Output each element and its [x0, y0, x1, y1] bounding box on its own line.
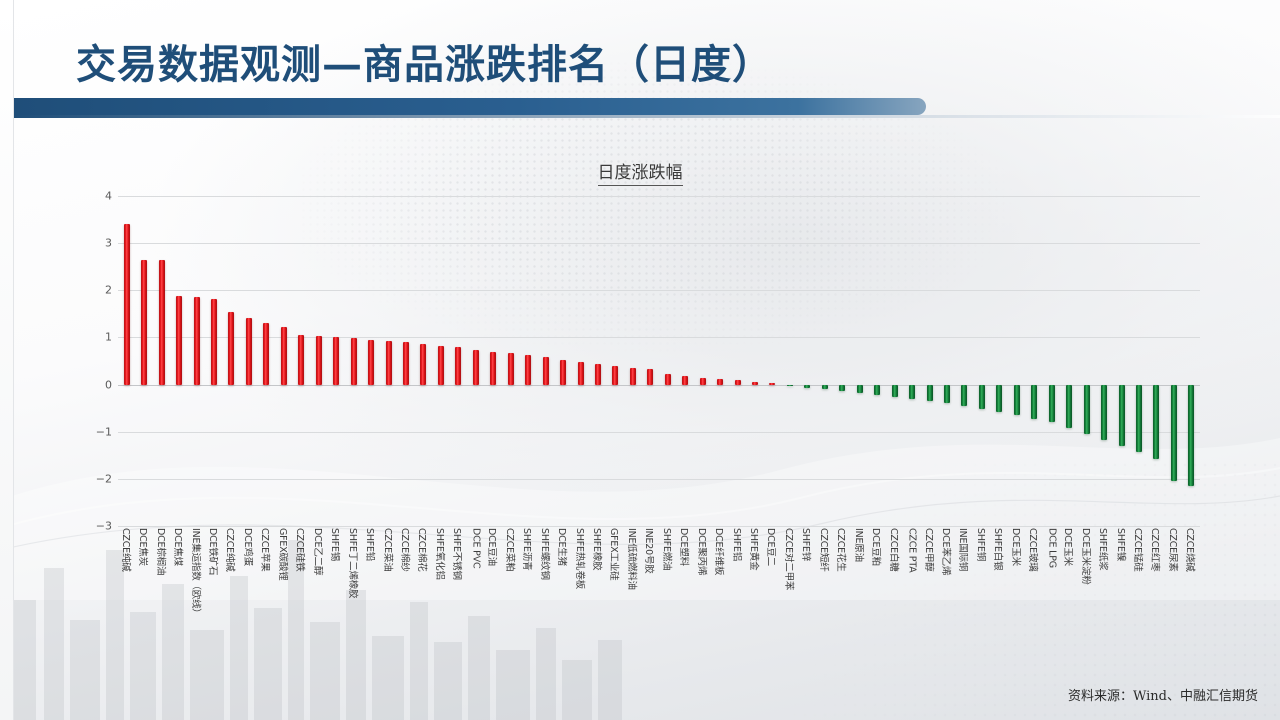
bar-slot [170, 196, 187, 526]
chart-bar [141, 260, 147, 385]
x-label-slot: DCE豆二 [764, 528, 781, 678]
x-axis-tick-label: CZCE苹果 [259, 528, 273, 572]
x-axis-tick-label: CZCE玻璃 [1027, 528, 1041, 572]
x-axis-tick-label: SHFE氧化铝 [434, 528, 448, 580]
x-label-slot: INE20号胶 [642, 528, 659, 678]
bar-slot [1095, 196, 1112, 526]
chart-bar [1188, 385, 1194, 486]
chart-bars-container [118, 196, 1200, 526]
x-axis-tick-label: DCE玉米淀粉 [1080, 528, 1094, 585]
x-axis-tick-label: INE20号胶 [643, 528, 657, 574]
x-axis-tick-label: DCE苯乙烯 [940, 528, 954, 575]
bar-slot [903, 196, 920, 526]
chart-bar [211, 299, 217, 385]
x-axis-tick-label: SHFE螺纹钢 [539, 528, 553, 580]
chart-bar [473, 350, 479, 385]
bar-slot [764, 196, 781, 526]
x-axis-tick-label: CZCE纯碱 [120, 528, 134, 572]
bar-slot [1165, 196, 1182, 526]
x-label-slot: DCE玉米 [1060, 528, 1077, 678]
chart-bar [560, 360, 566, 385]
x-axis-tick-label: SHFE丁二烯橡胶 [347, 528, 361, 598]
x-axis-tick-label: SHFE锌 [800, 528, 814, 561]
bar-slot [1113, 196, 1130, 526]
x-axis-tick-label: CZCE纯碱 [224, 528, 238, 572]
x-label-slot: CZCE玻璃 [1026, 528, 1043, 678]
chart-bar [1119, 385, 1125, 446]
bar-slot [572, 196, 589, 526]
y-axis: 43210−1−2−3 [80, 196, 118, 526]
x-axis-tick-label: INE集运指数（欧线） [190, 528, 204, 618]
x-axis-tick-label: DCE豆二 [765, 528, 779, 566]
x-axis-tick-label: DCE玉米 [1062, 528, 1076, 566]
x-label-slot: CZCE红枣 [1148, 528, 1165, 678]
x-label-slot: DCE焦煤 [170, 528, 187, 678]
bar-slot [537, 196, 554, 526]
chart-bar [647, 369, 653, 384]
x-label-slot: SHFE铅 [362, 528, 379, 678]
bar-slot [135, 196, 152, 526]
chart-bar [979, 385, 985, 410]
bar-slot [781, 196, 798, 526]
chart-bar [961, 385, 967, 407]
chart-bar [735, 380, 741, 385]
chart-bar [281, 327, 287, 385]
x-label-slot: SHFE丁二烯橡胶 [345, 528, 362, 678]
x-axis-tick-label: DCE生猪 [556, 528, 570, 566]
bar-slot [694, 196, 711, 526]
chart-bar [595, 364, 601, 385]
x-label-slot: CZCE短纤 [816, 528, 833, 678]
x-axis-tick-label: DCE铁矿石 [207, 528, 221, 575]
source-note: 资料来源：Wind、中融汇信期货 [1068, 685, 1258, 704]
x-label-slot: CZCE苹果 [258, 528, 275, 678]
x-label-slot: DCE铁矿石 [205, 528, 222, 678]
x-label-slot: CZCE纯碱 [118, 528, 135, 678]
chart-bar [159, 260, 165, 385]
bar-slot [642, 196, 659, 526]
x-label-slot: SHFE铜 [973, 528, 990, 678]
chart-bar [1171, 385, 1177, 482]
chart-bar [490, 352, 496, 385]
x-label-slot: CZCE菜油 [380, 528, 397, 678]
x-label-slot: SHFE不锈钢 [450, 528, 467, 678]
title-underline-hairline [14, 115, 1280, 118]
x-axis-tick-label: CZCE PTA [907, 528, 918, 573]
bar-slot [956, 196, 973, 526]
bar-slot [450, 196, 467, 526]
x-label-slot: CZCE硅铁 [293, 528, 310, 678]
bar-slot [746, 196, 763, 526]
x-axis-tick-label: DCE PVC [470, 528, 481, 568]
x-axis-tick-label: SHFE白银 [992, 528, 1006, 570]
chart-bar [578, 362, 584, 385]
chart-bar [228, 312, 234, 385]
x-label-slot: CZCE纯碱 [223, 528, 240, 678]
x-axis-tick-label: SHFE镍 [1115, 528, 1129, 561]
chart-bar [298, 335, 304, 385]
chart-bar [1084, 385, 1090, 435]
bar-slot [415, 196, 432, 526]
chart-bar [839, 385, 845, 392]
x-label-slot: DCE焦炭 [135, 528, 152, 678]
x-axis-tick-label: CZCE硅铁 [294, 528, 308, 572]
x-label-slot: DCE纤维板 [711, 528, 728, 678]
x-axis-tick-label: INE原油 [853, 528, 867, 562]
bar-slot [467, 196, 484, 526]
x-axis-tick-label: DCE鸡蛋 [242, 528, 256, 566]
chart-bar [386, 341, 392, 384]
x-label-slot: GFEX工业硅 [607, 528, 624, 678]
x-axis-tick-label: SHFE不锈钢 [451, 528, 465, 580]
bar-slot [223, 196, 240, 526]
x-label-slot: DCE乙二醇 [310, 528, 327, 678]
x-axis-tick-label: INE低硫燃料油 [626, 528, 640, 590]
x-axis-tick-label: GFEX工业硅 [608, 528, 622, 580]
x-axis-tick-label: GFEX碳酸锂 [277, 528, 291, 580]
bar-slot [589, 196, 606, 526]
chart-bar [874, 385, 880, 395]
title-underline-bar [14, 98, 926, 115]
chart-bar [996, 385, 1002, 412]
bar-slot [677, 196, 694, 526]
x-axis-tick-label: DCE焦煤 [172, 528, 186, 566]
bar-slot [624, 196, 641, 526]
chart-bar [438, 346, 444, 385]
chart-title: 日度涨跌幅 [0, 158, 1280, 183]
x-axis-tick-label: SHFE热轧卷板 [574, 528, 588, 589]
chart-bar [368, 340, 374, 385]
chart-bar [1153, 385, 1159, 459]
x-axis-tick-label: SHFE铅 [364, 528, 378, 561]
x-label-slot: SHFE黄金 [746, 528, 763, 678]
chart-bar [717, 379, 723, 385]
x-axis-tick-label: CZCE菜油 [382, 528, 396, 572]
x-axis-tick-label: DCE焦炭 [137, 528, 151, 566]
y-axis-tick-label: 1 [105, 331, 112, 344]
left-edge-strip [0, 0, 14, 720]
bar-slot [816, 196, 833, 526]
bar-slot [310, 196, 327, 526]
x-label-slot: CZCE PTA [903, 528, 920, 678]
x-axis-tick-label: CZCE甲醇 [923, 528, 937, 572]
x-axis-tick-label: DCE LPG [1046, 528, 1057, 568]
x-axis-tick-label: SHFE黄金 [748, 528, 762, 570]
bar-slot [327, 196, 344, 526]
chart-bar [403, 342, 409, 384]
bar-slot [153, 196, 170, 526]
gridline [118, 526, 1200, 527]
x-axis-tick-label: SHFE锡 [329, 528, 343, 561]
chart-bar [752, 382, 758, 384]
chart-bar [944, 385, 950, 404]
x-label-slot: DCE豆油 [485, 528, 502, 678]
x-axis-tick-label: CZCE棉花 [416, 528, 430, 572]
page-title: 交易数据观测—商品涨跌排名（日度） [76, 32, 773, 90]
x-label-slot: DCE生猪 [554, 528, 571, 678]
x-label-slot: CZCE菜粕 [502, 528, 519, 678]
chart-bar [333, 337, 339, 384]
chart-bar [1066, 385, 1072, 428]
x-label-slot: SHFE螺纹钢 [537, 528, 554, 678]
x-axis-tick-label: DCE豆粕 [870, 528, 884, 566]
x-axis-labels: CZCE纯碱DCE焦炭DCE棕榈油DCE焦煤INE集运指数（欧线）DCE铁矿石C… [118, 528, 1200, 678]
x-axis-tick-label: DCE纤维板 [713, 528, 727, 575]
x-label-slot: INE集运指数（欧线） [188, 528, 205, 678]
bar-slot [729, 196, 746, 526]
y-axis-tick-label: 0 [105, 378, 112, 391]
x-axis-tick-label: SHFE纸浆 [1097, 528, 1111, 570]
x-label-slot: DCE PVC [467, 528, 484, 678]
x-label-slot: CZCE棉花 [415, 528, 432, 678]
chart-bar [1136, 385, 1142, 452]
x-label-slot: SHFE锡 [327, 528, 344, 678]
x-axis-tick-label: SHFE燃油 [661, 528, 675, 570]
chart-bar [543, 357, 549, 384]
chart-bar [351, 338, 357, 384]
chart-bar [804, 385, 810, 388]
bar-slot [205, 196, 222, 526]
bar-slot [1078, 196, 1095, 526]
x-axis-tick-label: CZCE锰硅 [1132, 528, 1146, 572]
bar-slot [659, 196, 676, 526]
bar-slot [711, 196, 728, 526]
chart-bar [194, 297, 200, 384]
chart-bar [612, 366, 618, 385]
chart-bar [1049, 385, 1055, 423]
x-label-slot: INE国际铜 [956, 528, 973, 678]
x-label-slot: DCE棕榈油 [153, 528, 170, 678]
x-label-slot: CZCE尿素 [1165, 528, 1182, 678]
bar-slot [1060, 196, 1077, 526]
x-label-slot: INE低硫燃料油 [624, 528, 641, 678]
y-axis-tick-label: 3 [105, 237, 112, 250]
x-label-slot: DCE苯乙烯 [938, 528, 955, 678]
chart-title-text: 日度涨跌幅 [598, 163, 683, 186]
x-label-slot: INE原油 [851, 528, 868, 678]
x-label-slot: CZCE烧碱 [1183, 528, 1200, 678]
x-axis-tick-label: CZCE短纤 [818, 528, 832, 572]
x-label-slot: CZCE花生 [834, 528, 851, 678]
bar-slot [240, 196, 257, 526]
x-axis-tick-label: DCE乙二醇 [312, 528, 326, 575]
x-label-slot: DCE鸡蛋 [240, 528, 257, 678]
chart-bar [927, 385, 933, 401]
chart-bar [769, 383, 775, 384]
bar-slot [607, 196, 624, 526]
chart-bar [892, 385, 898, 397]
bar-slot [973, 196, 990, 526]
bar-slot [886, 196, 903, 526]
x-label-slot: SHFE燃油 [659, 528, 676, 678]
y-axis-tick-label: 4 [105, 190, 112, 203]
bar-slot [554, 196, 571, 526]
bar-slot [1130, 196, 1147, 526]
bar-slot [519, 196, 536, 526]
x-axis-tick-label: SHFE铝 [731, 528, 745, 561]
x-label-slot: SHFE氧化铝 [432, 528, 449, 678]
x-label-slot: DCE LPG [1043, 528, 1060, 678]
bar-slot [397, 196, 414, 526]
x-axis-tick-label: CZCE烧碱 [1184, 528, 1198, 572]
x-label-slot: DCE豆粕 [868, 528, 885, 678]
x-axis-tick-label: CZCE尿素 [1167, 528, 1181, 572]
x-label-slot: CZCE甲醇 [921, 528, 938, 678]
chart-bar [1101, 385, 1107, 441]
y-axis-tick-label: 2 [105, 284, 112, 297]
bar-slot [118, 196, 135, 526]
bar-slot [293, 196, 310, 526]
x-axis-tick-label: DCE聚丙烯 [696, 528, 710, 575]
x-axis-tick-label: DCE玉米 [1010, 528, 1024, 566]
chart-bar [455, 347, 461, 385]
bar-slot [502, 196, 519, 526]
x-axis-tick-label: SHFE铜 [975, 528, 989, 561]
bar-slot [799, 196, 816, 526]
chart-bar [176, 296, 182, 385]
bar-slot [851, 196, 868, 526]
bar-slot [188, 196, 205, 526]
x-label-slot: SHFE白银 [991, 528, 1008, 678]
x-axis-tick-label: CZCE菜粕 [504, 528, 518, 572]
slide-title-band: 交易数据观测—商品涨跌排名（日度） [14, 10, 1280, 110]
bar-slot [1026, 196, 1043, 526]
chart-bar [909, 385, 915, 399]
chart-bar [316, 336, 322, 385]
bar-slot [275, 196, 292, 526]
x-axis-tick-label: DCE豆油 [486, 528, 500, 566]
x-axis-tick-label: CZCE对二甲苯 [783, 528, 797, 590]
y-axis-tick-label: −1 [96, 425, 112, 438]
x-label-slot: CZCE锰硅 [1130, 528, 1147, 678]
x-label-slot: DCE玉米 [1008, 528, 1025, 678]
chart-bar [263, 323, 269, 384]
bar-slot [868, 196, 885, 526]
chart-bar [525, 355, 531, 384]
chart-bar [857, 385, 863, 393]
x-axis-tick-label: DCE塑料 [678, 528, 692, 566]
x-label-slot: SHFE纸浆 [1095, 528, 1112, 678]
x-label-slot: SHFE热轧卷板 [572, 528, 589, 678]
y-axis-tick-label: −3 [96, 520, 112, 533]
x-label-slot: SHFE铝 [729, 528, 746, 678]
x-axis-tick-label: CZCE花生 [835, 528, 849, 572]
bar-slot [1043, 196, 1060, 526]
x-label-slot: GFEX碳酸锂 [275, 528, 292, 678]
bar-slot [362, 196, 379, 526]
bar-slot [938, 196, 955, 526]
bar-slot [1183, 196, 1200, 526]
bar-slot [1008, 196, 1025, 526]
x-label-slot: DCE塑料 [677, 528, 694, 678]
chart-bar [630, 368, 636, 385]
chart-bar [822, 385, 828, 390]
chart-bar [665, 374, 671, 384]
chart-bar [700, 378, 706, 385]
y-axis-tick-label: −2 [96, 472, 112, 485]
bar-chart-plot-area: 43210−1−2−3 [80, 196, 1200, 526]
chart-bar [1014, 385, 1020, 415]
x-axis-tick-label: SHFE沥青 [521, 528, 535, 570]
bar-slot [345, 196, 362, 526]
bar-slot [921, 196, 938, 526]
bar-slot [258, 196, 275, 526]
x-label-slot: SHFE锌 [799, 528, 816, 678]
bar-slot [991, 196, 1008, 526]
x-label-slot: DCE聚丙烯 [694, 528, 711, 678]
bar-slot [1148, 196, 1165, 526]
x-label-slot: DCE玉米淀粉 [1078, 528, 1095, 678]
x-label-slot: CZCE对二甲苯 [781, 528, 798, 678]
bar-slot [834, 196, 851, 526]
x-axis-tick-label: CZCE红枣 [1149, 528, 1163, 572]
x-axis-tick-label: CZCE棉纱 [399, 528, 413, 572]
x-axis-tick-label: SHFE橡胶 [591, 528, 605, 570]
x-label-slot: CZCE棉纱 [397, 528, 414, 678]
chart-bar [1031, 385, 1037, 419]
chart-bar [787, 385, 793, 387]
x-label-slot: SHFE镍 [1113, 528, 1130, 678]
chart-bar [420, 344, 426, 385]
chart-bar [124, 224, 130, 384]
x-axis-tick-label: INE国际铜 [957, 528, 971, 571]
x-axis-tick-label: DCE棕榈油 [155, 528, 169, 575]
chart-bar [246, 318, 252, 385]
bar-slot [485, 196, 502, 526]
x-label-slot: SHFE沥青 [519, 528, 536, 678]
x-axis-tick-label: CZCE白糖 [888, 528, 902, 572]
bar-slot [380, 196, 397, 526]
x-label-slot: SHFE橡胶 [589, 528, 606, 678]
bar-slot [432, 196, 449, 526]
chart-bar [508, 353, 514, 384]
x-label-slot: CZCE白糖 [886, 528, 903, 678]
chart-bar [682, 376, 688, 384]
